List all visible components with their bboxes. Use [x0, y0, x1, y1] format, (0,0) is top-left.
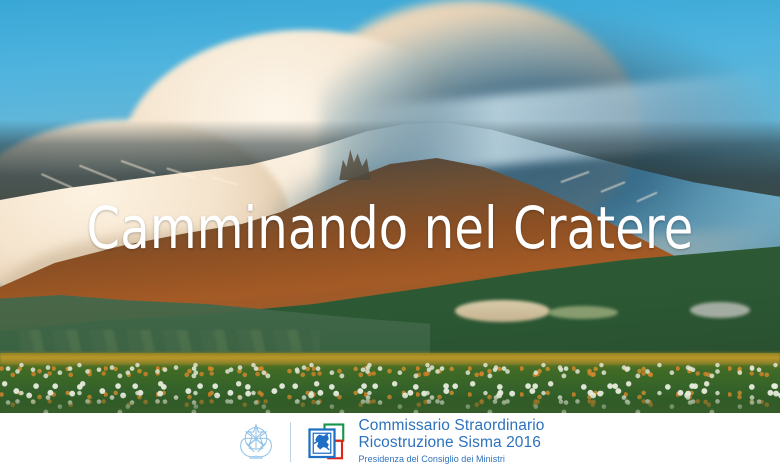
footer-bar: Commissario Straordinario Ricostruzione …: [0, 413, 780, 470]
foreground-grass-blur: [0, 395, 780, 413]
promo-banner: Camminando nel Cratere: [0, 0, 780, 470]
hero-image: Camminando nel Cratere: [0, 0, 780, 413]
brand-line-3: Presidenza del Consiglio dei Ministri: [359, 453, 545, 466]
cultivated-fields: [20, 330, 320, 352]
sunlit-field-patch: [455, 300, 550, 322]
page-title: Camminando nel Cratere: [31, 196, 749, 260]
footer-logos: Commissario Straordinario Ricostruzione …: [236, 417, 545, 466]
brand-line-1: Commissario Straordinario: [359, 417, 545, 434]
brand-text-block: Commissario Straordinario Ricostruzione …: [359, 417, 545, 466]
brand-line-2: Ricostruzione Sisma 2016: [359, 434, 545, 451]
vertical-divider: [290, 422, 291, 462]
snow-patch: [690, 302, 750, 318]
italian-republic-emblem-icon: [236, 420, 276, 464]
sunlit-field-patch: [548, 306, 618, 319]
commissario-sisma-logo-icon: [307, 422, 347, 462]
